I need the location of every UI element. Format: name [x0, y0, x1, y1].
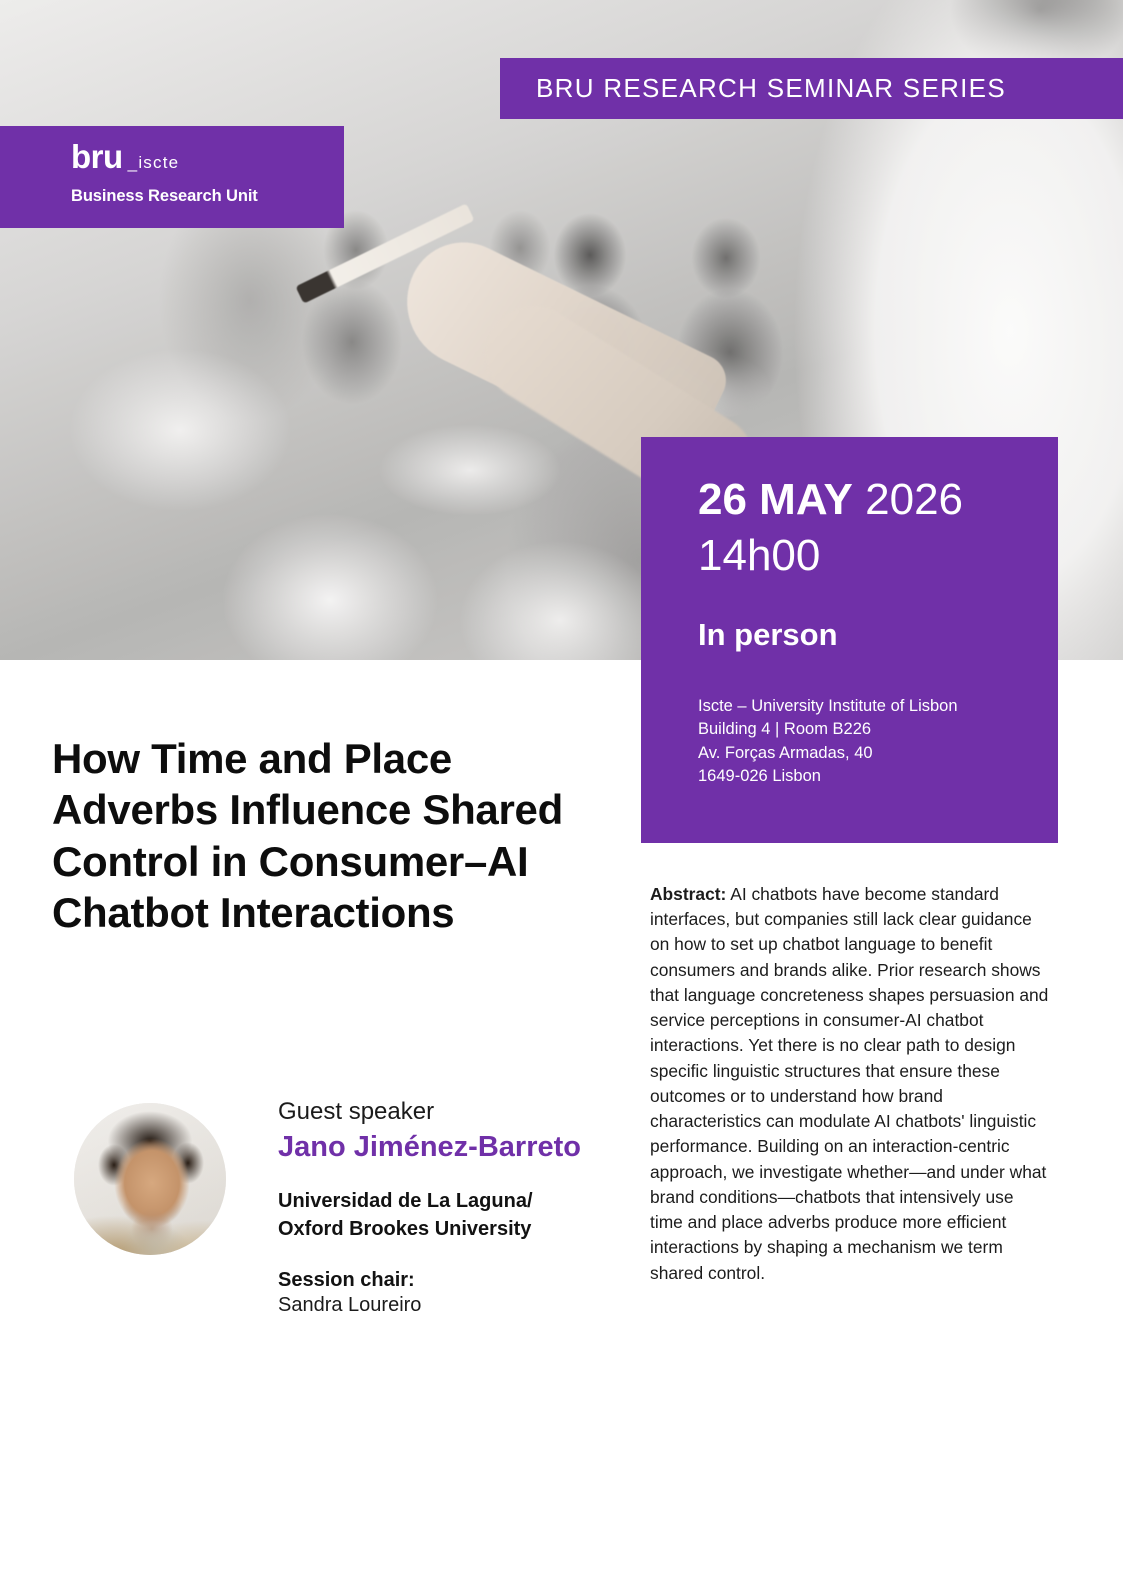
logo-subtitle: Business Research Unit: [71, 187, 258, 206]
seminar-series-banner: BRU RESEARCH SEMINAR SERIES: [500, 58, 1123, 119]
event-time: 14h00: [698, 529, 820, 583]
speaker-text-block: Guest speaker Jano Jiménez-Barreto Unive…: [278, 1097, 668, 1318]
bru-logo-wordmark: bru _iscte: [71, 140, 179, 173]
abstract-label: Abstract:: [650, 884, 726, 904]
session-chair-name: Sandra Loureiro: [278, 1292, 668, 1318]
event-year: 2026: [865, 475, 963, 524]
event-details-box: 26 MAY 2026 14h00 In person Iscte – Univ…: [641, 437, 1058, 843]
abstract-body: AI chatbots have become standard interfa…: [650, 884, 1048, 1283]
event-venue-address: Iscte – University Institute of Lisbon B…: [698, 695, 958, 789]
event-day-month: 26 MAY: [698, 475, 853, 524]
logo-iscte-text: _iscte: [128, 153, 180, 173]
speaker-avatar: [74, 1103, 226, 1255]
abstract-paragraph: Abstract: AI chatbots have become standa…: [650, 882, 1050, 1286]
bru-logo-box: bru _iscte Business Research Unit: [0, 126, 344, 228]
speaker-name: Jano Jiménez-Barreto: [278, 1129, 668, 1166]
speaker-portrait-photo: [74, 1103, 226, 1255]
event-mode: In person: [698, 617, 838, 653]
seminar-series-title: BRU RESEARCH SEMINAR SERIES: [536, 73, 1006, 104]
event-date-line: 26 MAY 2026: [698, 473, 963, 527]
speaker-affiliation: Universidad de La Laguna/ Oxford Brookes…: [278, 1188, 668, 1243]
guest-speaker-label: Guest speaker: [278, 1097, 668, 1127]
session-chair-label: Session chair:: [278, 1269, 668, 1292]
talk-title: How Time and Place Adverbs Influence Sha…: [52, 733, 592, 938]
logo-bru-text: bru: [71, 140, 123, 173]
